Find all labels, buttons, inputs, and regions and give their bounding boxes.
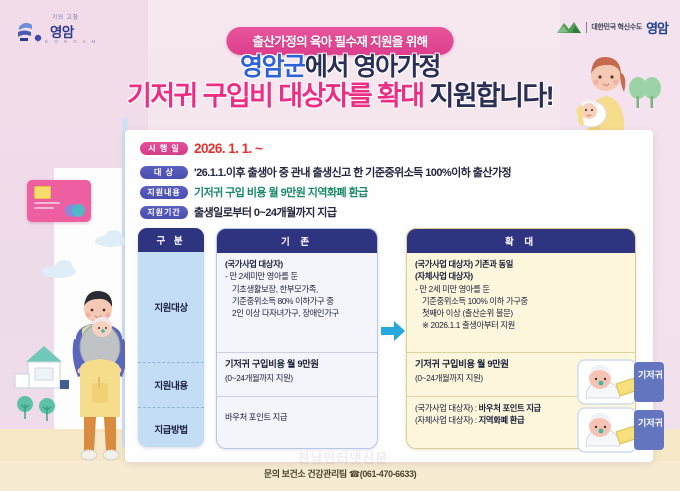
credit-card-illustration bbox=[27, 180, 91, 222]
yeongam-logo-right: 대한민국 혁신수도 영암 bbox=[556, 14, 668, 40]
logo-left-name: 영암 bbox=[50, 21, 74, 41]
tree-icon bbox=[16, 395, 34, 421]
info-badge: 시 행 일 bbox=[140, 142, 188, 155]
info-badge: 지원기간 bbox=[140, 206, 188, 219]
expanded-target-line: - 만 2세 미만 영아를 둔 bbox=[415, 284, 490, 294]
yeongam-logo-left: 기의 고향 영암 Y E O N G A M bbox=[14, 12, 118, 52]
logo-left-subtext: Y E O N G A M bbox=[36, 39, 98, 44]
existing-target-title: (국가사업 대상자) bbox=[225, 258, 369, 270]
logo-left-slogan: 기의 고향 bbox=[52, 13, 79, 21]
info-row: 대 상 '26.1.1.이후 출생아 중 관내 출생신고 한 기준중위소득 10… bbox=[140, 164, 511, 180]
expanded-target-line1: (국가사업 대상자) 기존과 동일 bbox=[415, 258, 627, 270]
table-header-gubun: 구 분 bbox=[138, 228, 204, 252]
diaper-label: 기저귀 bbox=[638, 417, 663, 428]
headline-pill-text: 출산가정의 육아 필수재 지원을 위해 bbox=[253, 35, 428, 49]
info-text: 2026. 1. 1. ~ bbox=[194, 141, 262, 156]
info-text: 출생일로부터 0~24개월까지 지급 bbox=[194, 204, 336, 220]
expanded-content-main: 기저귀 구입비용 월 9만원 bbox=[415, 359, 509, 369]
card-chip-icon bbox=[34, 186, 51, 199]
table-column-gubun: 구 분 지원대상 지원내용 지급방법 bbox=[138, 228, 204, 447]
expanded-target-note: ※ 2026.1.1 출생아부터 지원 bbox=[415, 319, 627, 331]
existing-content-sub: (0~24개월까지 지원) bbox=[225, 373, 293, 383]
title-line-1-rest: 에서 영아가정 bbox=[305, 53, 440, 81]
expanded-target-cell: (국가사업 대상자) 기존과 동일 (자체사업 대상자) - 만 2세 미만 영… bbox=[407, 253, 635, 352]
footer-contact-text: 문의 보건소 건강관리팀 ☎(061-470-6633) bbox=[264, 469, 416, 479]
existing-target-line: 2인 이상 다자녀가구, 장애인가구 bbox=[225, 307, 369, 319]
expanded-target-line: 기준중위소득 100% 이하 가구중 bbox=[415, 295, 627, 307]
poster-root: 기의 고향 영암 Y E O N G A M 대한민국 혁신수도 영암 출산가정… bbox=[0, 0, 680, 491]
title-line-1-highlight: 영암군 bbox=[240, 53, 305, 81]
expanded-method-value: 지역화폐 환급 bbox=[479, 415, 525, 425]
existing-target-line: - 만 2세미만 영아를 둔 bbox=[225, 271, 298, 281]
card-line bbox=[34, 202, 60, 204]
expanded-target-line2: (자체사업 대상자) bbox=[415, 270, 627, 282]
info-text: '26.1.1.이후 출생아 중 관내 출생신고 한 기준중위소득 100%이하… bbox=[194, 164, 511, 180]
card-circle bbox=[72, 204, 85, 217]
cloud-icon bbox=[105, 230, 122, 244]
existing-target-line: 기준중위소득 80% 이하가구 중 bbox=[225, 295, 369, 307]
mountain-icon bbox=[556, 20, 582, 34]
babies-with-diapers-illustration: 기저귀 기저귀 bbox=[576, 358, 672, 456]
mother-and-baby-illustration bbox=[558, 48, 662, 134]
title-line-2-rest: 지원합니다! bbox=[424, 81, 554, 111]
logo-divider bbox=[586, 22, 588, 33]
existing-method-text: 바우처 포인트 지급 bbox=[225, 402, 369, 423]
table-row-label: 지원내용 bbox=[138, 362, 204, 407]
table-row-label: 지원대상 bbox=[138, 252, 204, 362]
existing-method-cell: 바우처 포인트 지급 bbox=[217, 396, 377, 437]
card-line bbox=[34, 207, 54, 209]
info-badge: 대 상 bbox=[140, 166, 188, 179]
existing-target-line: 기초생활보장, 한부모가족, bbox=[225, 283, 369, 295]
info-badge: 지원내용 bbox=[140, 186, 188, 199]
expanded-method-value: 바우처 포인트 지급 bbox=[479, 403, 541, 413]
existing-content-cell: 기저귀 구입비용 월 9만원 (0~24개월까지 지원) bbox=[217, 352, 377, 396]
expanded-target-line: 첫째아 이상 (출산순위 불문) bbox=[415, 307, 627, 319]
info-text: 기저귀 구입 비용 월 9만원 지역화폐 환급 bbox=[194, 184, 368, 200]
comparison-table: 구 분 지원대상 지원내용 지급방법 기 존 (국가사업 대상자) - 만 2세… bbox=[138, 228, 638, 453]
table-row-label: 지급방법 bbox=[138, 407, 204, 447]
expanded-content-sub: (0~24개월까지 지원) bbox=[415, 373, 483, 383]
tree-icon bbox=[38, 397, 56, 423]
arrow-right-icon bbox=[381, 320, 405, 342]
info-row: 시 행 일 2026. 1. 1. ~ bbox=[140, 141, 262, 156]
logo-right-slogan: 대한민국 혁신수도 bbox=[591, 22, 642, 32]
table-column-existing: 기 존 (국가사업 대상자) - 만 2세미만 영아를 둔 기초생활보장, 한부… bbox=[216, 228, 378, 449]
table-header-existing: 기 존 bbox=[217, 229, 377, 253]
logo-right-name: 영암 bbox=[646, 18, 668, 37]
info-row: 지원기간 출생일로부터 0~24개월까지 지급 bbox=[140, 204, 336, 220]
headline-pill: 출산가정의 육아 필수재 지원을 위해 bbox=[227, 27, 454, 55]
existing-content-main: 기저귀 구입비용 월 9만원 bbox=[225, 359, 319, 369]
diaper-label: 기저귀 bbox=[638, 369, 663, 380]
footer: 문의 보건소 건강관리팀 ☎(061-470-6633) bbox=[0, 464, 680, 482]
title-line-2-highlight: 기저귀 구입비 대상자를 확대 bbox=[127, 81, 424, 111]
existing-target-cell: (국가사업 대상자) - 만 2세미만 영아를 둔 기초생활보장, 한부모가족,… bbox=[217, 253, 377, 352]
table-header-expanded: 확 대 bbox=[407, 229, 635, 253]
cloud-icon bbox=[55, 260, 73, 275]
expanded-method-label: (자체사업 대상자) : bbox=[415, 415, 479, 425]
info-row: 지원내용 기저귀 구입 비용 월 9만원 지역화폐 환급 bbox=[140, 184, 368, 200]
expanded-method-label: (국가사업 대상자) : bbox=[415, 403, 479, 413]
